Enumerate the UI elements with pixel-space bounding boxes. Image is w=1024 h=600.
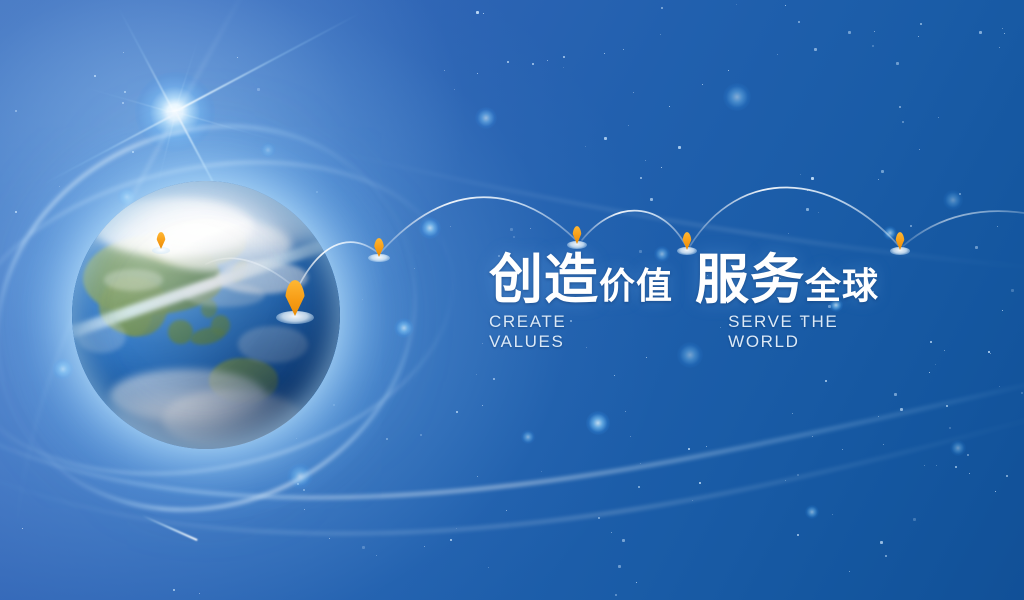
headline-segment-1-sub: 价值 bbox=[599, 268, 673, 304]
subtitle-right: SERVE THE WORLD bbox=[728, 312, 909, 352]
pin-route-1[interactable] bbox=[368, 238, 390, 262]
pin-globe-north-asia[interactable] bbox=[152, 232, 170, 254]
pin-route-2[interactable] bbox=[567, 226, 587, 249]
subtitle: CREATE VALUES SERVE THE WORLD bbox=[489, 312, 909, 352]
headline-segment-1-main: 创造 bbox=[489, 253, 599, 307]
headline-segment-2-sub: 全球 bbox=[805, 268, 879, 304]
pin-globe-oceania[interactable] bbox=[276, 280, 314, 324]
pin-route-4[interactable] bbox=[890, 232, 910, 255]
pin-route-3[interactable] bbox=[677, 232, 697, 255]
headline-segment-2-main: 服务 bbox=[695, 253, 805, 307]
subtitle-left: CREATE VALUES bbox=[489, 312, 642, 352]
banner-stage: 创造 价值 服务 全球 CREATE VALUES SERVE THE WORL… bbox=[0, 0, 1024, 600]
